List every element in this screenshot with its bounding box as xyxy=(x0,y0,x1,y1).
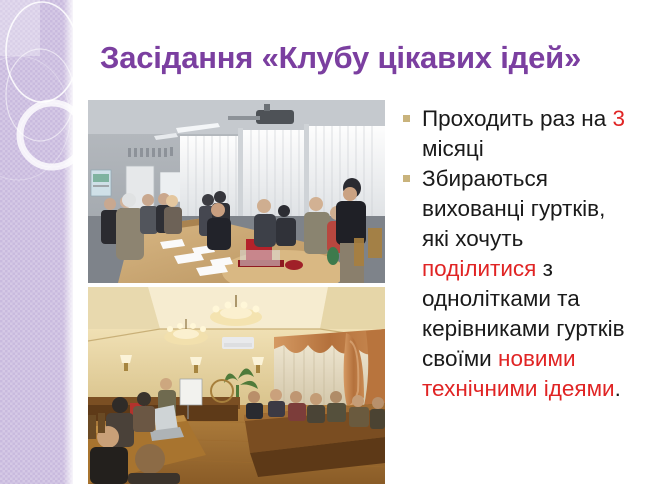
bullet-2-line-5: однолітками та xyxy=(422,284,640,314)
bullet-2-line-3: які хочуть xyxy=(422,224,640,254)
highlight-tehnichnymy-ideyamy: технічними ідеями xyxy=(422,376,615,401)
bullet-2-line-2: вихованці гуртків, xyxy=(422,194,640,224)
bullet-2-line-7: своїми новими xyxy=(422,344,640,374)
bullet-2-line-6: керівниками гуртків xyxy=(422,314,640,344)
highlight-number: 3 xyxy=(612,106,625,131)
highlight-novymy: новими xyxy=(498,346,576,371)
photo-assembly-hall-illustration xyxy=(88,287,385,484)
slide-canvas: Засідання «Клубу цікавих ідей» xyxy=(0,0,645,484)
page-title: Засідання «Клубу цікавих ідей» xyxy=(100,38,630,78)
lavender-decorative-band xyxy=(0,0,73,484)
square-bullet-icon xyxy=(403,115,410,122)
bullet-2-line-4: поділитися з xyxy=(422,254,640,284)
photo-meeting-room-illustration xyxy=(88,100,385,283)
list-item: Збираються вихованці гуртків, які хочуть… xyxy=(400,164,640,404)
highlight-podilytysya: поділитися xyxy=(422,256,536,281)
photo-assembly-hall xyxy=(88,287,385,484)
photo-meeting-room-table xyxy=(88,100,385,283)
bullet-1-line-1: Проходить раз на 3 xyxy=(422,104,640,134)
band-soft-edge xyxy=(63,0,73,484)
bullet-2-line-8: технічними ідеями. xyxy=(422,374,640,404)
bullet-1-line-2: місяці xyxy=(422,134,640,164)
bullet-list: Проходить раз на 3 місяці Збираються вих… xyxy=(400,104,640,404)
square-bullet-icon xyxy=(403,175,410,182)
bullet-2-line-1: Збираються xyxy=(422,164,640,194)
list-item: Проходить раз на 3 місяці xyxy=(400,104,640,164)
